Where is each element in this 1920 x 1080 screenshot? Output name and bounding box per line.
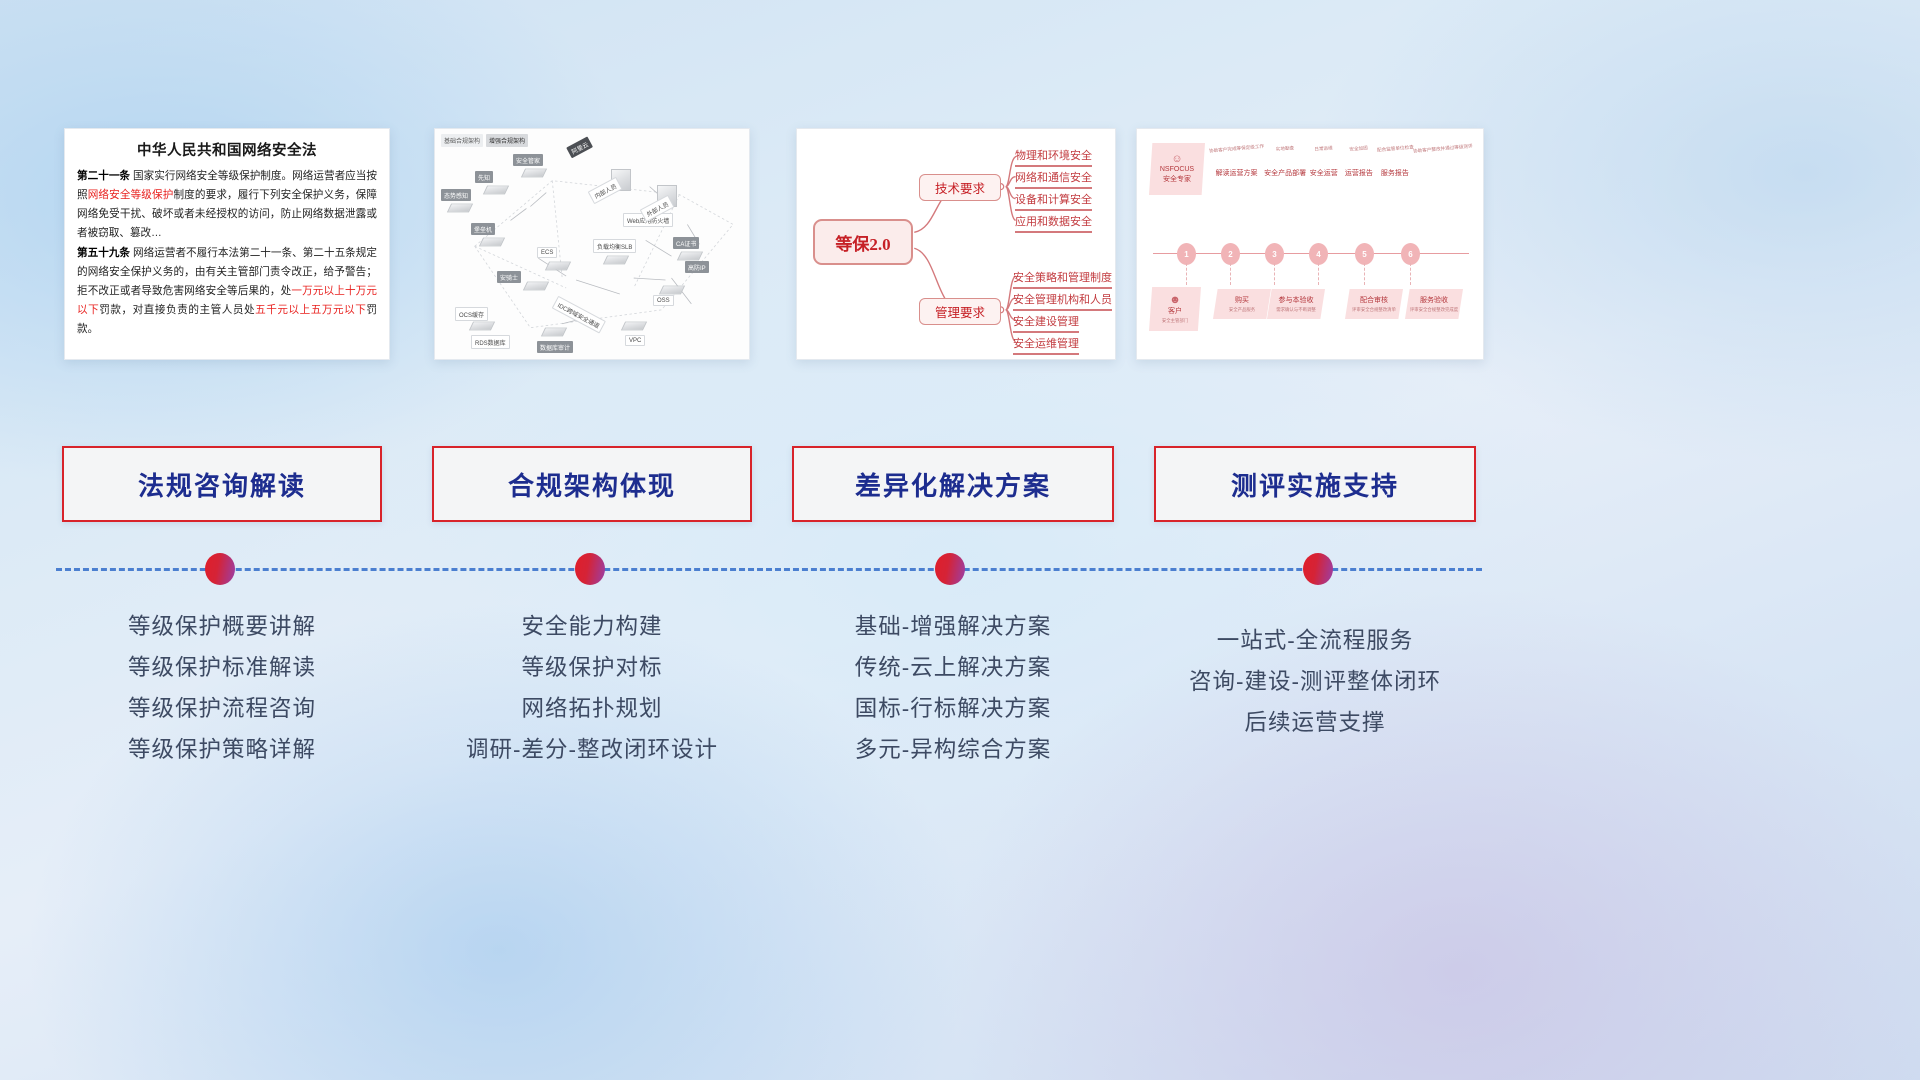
pillar-3-item-1: 咨询-建设-测评整体闭环 — [1154, 661, 1476, 702]
pillar-2-item-3: 多元-异构综合方案 — [792, 729, 1114, 770]
service-bottom-tag-label-2: 配合审核 — [1360, 296, 1388, 305]
arch-node-slb: 负载均衡SLB — [593, 239, 636, 253]
service-bottom-tag-2: 配合审核评审安全合规整改清单 — [1345, 289, 1403, 319]
service-step-dashline-4 — [1318, 263, 1319, 285]
service-top-column-5: 协助客户整改并通过等级测评 — [1413, 146, 1473, 178]
pillar-2-item-0: 基础-增强解决方案 — [792, 606, 1114, 647]
arch-node-ca-certificate: CA证书 — [673, 237, 699, 249]
client-sublabel: 安全主管部门 — [1162, 318, 1188, 324]
service-top-column-3: 安全加固运营报告 — [1341, 146, 1376, 178]
service-top-sub-4: 配合监管单位检查 — [1376, 144, 1413, 153]
pillar-title-1: 合规架构体现 — [508, 466, 676, 503]
arch-icon-ocs-cache — [469, 322, 495, 331]
arch-icon-vpc — [621, 322, 647, 331]
service-step-dot-5: 5 — [1355, 243, 1374, 265]
service-step-labels: 协助客户完成等保定级工作解读运营方案实地勘查安全产品部署日常运维安全运营安全加固… — [1205, 143, 1473, 178]
service-client-badge: ☻ 客户 安全主管部门 — [1149, 287, 1201, 331]
service-top-column-1: 实地勘查安全产品部署 — [1264, 146, 1306, 178]
law-card-title: 中华人民共和国网络安全法 — [77, 139, 377, 160]
service-top-main-2: 安全运营 — [1306, 168, 1341, 178]
architecture-tab-basic[interactable]: 基础合规架构 — [441, 134, 483, 147]
law-article-1-segment-3: 五千元以上五万元以下 — [255, 304, 366, 316]
service-top-column-0: 协助客户完成等保定级工作解读运营方案 — [1209, 146, 1264, 178]
pillar-0-item-1: 等级保护标准解读 — [62, 647, 382, 688]
service-step-dot-6: 6 — [1401, 243, 1420, 265]
law-article-number-1: 第五十九条 — [77, 247, 130, 259]
pillar-3-item-2: 后续运营支撑 — [1154, 702, 1476, 743]
service-bottom-tag-label-0: 购买 — [1235, 296, 1249, 305]
law-article-0: 第二十一条 国家实行网络安全等级保护制度。网络运营者应当按照网络安全等级保护制度… — [77, 167, 377, 242]
arch-node-security-steward: 安全管家 — [513, 154, 543, 166]
timeline — [0, 568, 1920, 570]
arch-icon-security-steward — [521, 169, 547, 178]
mindmap-leaf-device-compute: 设备和计算安全 — [1015, 191, 1092, 211]
service-bottom-row: ☻ 客户 安全主管部门 购买安全产品服务参与本验收需求确认与不断调整配合审核评审… — [1149, 283, 1473, 339]
mindmap-leaf-ops-mgmt: 安全运维管理 — [1013, 335, 1079, 355]
pillar-1-item-3: 调研-差分-整改闭环设计 — [432, 729, 752, 770]
service-expert-badge: ☺ NSFOCUS 安全专家 — [1149, 143, 1205, 195]
service-step-dashline-1 — [1186, 263, 1187, 285]
timeline-dot-2 — [935, 553, 965, 585]
arch-icon-ecs — [545, 262, 571, 271]
service-top-main-0: 解读运营方案 — [1209, 168, 1264, 178]
service-step-dashline-2 — [1230, 263, 1231, 285]
architecture-diagram: 基础合规架构 增强合规架构 — [435, 129, 749, 359]
mindmap-leaf-policy-system: 安全策略和管理制度 — [1013, 269, 1112, 289]
service-step-dashline-5 — [1364, 263, 1365, 285]
pillar-title-2: 差异化解决方案 — [855, 466, 1051, 503]
service-top-main-3: 运营报告 — [1341, 168, 1376, 178]
arch-icon-slb — [603, 256, 629, 265]
pillar-1-item-2: 网络拓扑规划 — [432, 688, 752, 729]
arch-node-ecs: ECS — [537, 247, 557, 258]
service-step-dashline-3 — [1274, 263, 1275, 285]
arch-node-situational-awareness: 态势感知 — [441, 189, 471, 201]
mindmap-branch-technical: 技术要求 — [919, 174, 1001, 201]
service-bottom-tag-label-1: 参与本验收 — [1279, 296, 1314, 305]
law-card-content: 中华人民共和国网络安全法 第二十一条 国家实行网络安全等级保护制度。网络运营者应… — [65, 129, 389, 347]
service-top-main-1: 安全产品部署 — [1264, 168, 1306, 178]
pillar-1-item-1: 等级保护对标 — [432, 647, 752, 688]
mindmap-branch-management: 管理要求 — [919, 298, 1001, 325]
service-top-sub-1: 实地勘查 — [1264, 144, 1306, 153]
service-timeline-diagram: ☺ NSFOCUS 安全专家 协助客户完成等保定级工作解读运营方案实地勘查安全产… — [1137, 129, 1483, 359]
law-article-0-segment-1: 网络安全等级保护 — [88, 189, 174, 201]
arch-node-anqishi: 安骑士 — [497, 271, 521, 283]
card-cybersecurity-law[interactable]: 中华人民共和国网络安全法 第二十一条 国家实行网络安全等级保护制度。网络运营者应… — [64, 128, 390, 360]
service-step-dot-3: 3 — [1265, 243, 1284, 265]
arch-icon-anqishi — [523, 282, 549, 291]
expert-brand: NSFOCUS — [1160, 165, 1194, 174]
arch-node-bastion-host: 堡垒机 — [471, 223, 495, 235]
timeline-dot-1 — [575, 553, 605, 585]
arch-icon-situational-awareness — [447, 204, 473, 213]
arch-icon-bastion-host — [479, 238, 505, 247]
mindmap-leaf-network-comm: 网络和通信安全 — [1015, 169, 1092, 189]
law-article-1-segment-2: 罚款，对直接负责的主管人员处 — [99, 304, 255, 316]
arch-node-rds-database: RDS数据库 — [471, 335, 510, 349]
pillar-items-0: 等级保护概要讲解等级保护标准解读等级保护流程咨询等级保护策略详解 — [62, 606, 382, 770]
service-bottom-tag-sub-2: 评审安全合规整改清单 — [1352, 307, 1396, 313]
law-article-list: 第二十一条 国家实行网络安全等级保护制度。网络运营者应当按照网络安全等级保护制度… — [77, 167, 377, 339]
client-label: 客户 — [1168, 306, 1182, 316]
service-top-sub-3: 安全加固 — [1341, 144, 1377, 153]
pillar-box-compliance-architecture[interactable]: 合规架构体现 — [432, 446, 752, 522]
service-step-dashline-6 — [1410, 263, 1411, 285]
pillar-2-item-2: 国标-行标解决方案 — [792, 688, 1114, 729]
pillar-box-differentiated-solution[interactable]: 差异化解决方案 — [792, 446, 1114, 522]
pillar-items-2: 基础-增强解决方案传统-云上解决方案国标-行标解决方案多元-异构综合方案 — [792, 606, 1114, 770]
card-mindmap-dengbao[interactable]: 等保2.0 技术要求 物理和环境安全 网络和通信安全 设备和计算安全 应用和数据… — [796, 128, 1116, 360]
arch-icon-ca-certificate — [677, 252, 703, 261]
service-step-dot-4: 4 — [1309, 243, 1328, 265]
mindmap-root-node: 等保2.0 — [813, 219, 913, 265]
pillar-2-item-1: 传统-云上解决方案 — [792, 647, 1114, 688]
service-bottom-tag-label-3: 服务验收 — [1420, 296, 1448, 305]
timeline-dot-3 — [1303, 553, 1333, 585]
expert-person-icon: ☺ — [1171, 154, 1182, 165]
arch-icon-oss — [659, 286, 685, 295]
card-compliance-architecture[interactable]: 基础合规架构 增强合规架构 — [434, 128, 750, 360]
service-top-sub-5: 协助客户整改并通过等级测评 — [1413, 143, 1473, 154]
service-bottom-tag-sub-1: 需求确认与不断调整 — [1276, 307, 1316, 313]
pillar-items-1: 安全能力构建等级保护对标网络拓扑规划调研-差分-整改闭环设计 — [432, 606, 752, 770]
pillar-1-item-0: 安全能力构建 — [432, 606, 752, 647]
service-bottom-tag-0: 购买安全产品服务 — [1213, 289, 1271, 319]
pillar-title-row: 法规咨询解读 合规架构体现 差异化解决方案 测评实施支持 — [0, 446, 1920, 522]
service-step-dot-2: 2 — [1221, 243, 1240, 265]
pillar-0-item-3: 等级保护策略详解 — [62, 729, 382, 770]
mindmap-leaf-app-data: 应用和数据安全 — [1015, 213, 1092, 233]
pillar-0-item-2: 等级保护流程咨询 — [62, 688, 382, 729]
reference-cards-row: 中华人民共和国网络安全法 第二十一条 国家实行网络安全等级保护制度。网络运营者应… — [0, 128, 1920, 360]
timeline-dot-0 — [205, 553, 235, 585]
service-bottom-tag-sub-3: 评审安全合规整改完成度 — [1410, 307, 1458, 313]
mindmap-leaf-construction-mgmt: 安全建设管理 — [1013, 313, 1079, 333]
arch-node-xianzhi: 先知 — [475, 171, 493, 183]
arch-node-ocs-cache: OCS缓存 — [455, 307, 488, 321]
service-top-sub-2: 日常运维 — [1306, 144, 1342, 153]
architecture-tab-enhanced[interactable]: 增强合规架构 — [486, 134, 528, 147]
service-step-dot-1: 1 — [1177, 243, 1196, 265]
architecture-tabs[interactable]: 基础合规架构 增强合规架构 — [441, 134, 528, 147]
pillar-box-regulation-consulting[interactable]: 法规咨询解读 — [62, 446, 382, 522]
pillar-items-3: 一站式-全流程服务咨询-建设-测评整体闭环后续运营支撑 — [1154, 620, 1476, 743]
arch-icon-xianzhi — [483, 186, 509, 195]
pillar-title-3: 测评实施支持 — [1231, 466, 1399, 503]
law-article-1: 第五十九条 网络运营者不履行本法第二十一条、第二十五条规定的网络安全保护义务的，… — [77, 244, 377, 338]
expert-role: 安全专家 — [1163, 175, 1191, 184]
service-top-column-4: 配合监管单位检查服务报告 — [1377, 146, 1414, 178]
timeline-dashed-line — [56, 568, 1482, 571]
pillar-0-item-0: 等级保护概要讲解 — [62, 606, 382, 647]
card-service-timeline[interactable]: ☺ NSFOCUS 安全专家 协助客户完成等保定级工作解读运营方案实地勘查安全产… — [1136, 128, 1484, 360]
service-top-sub-0: 协助客户完成等保定级工作 — [1209, 144, 1264, 155]
mindmap-leaf-org-personnel: 安全管理机构和人员 — [1013, 291, 1112, 311]
arch-node-vpc: VPC — [625, 335, 645, 346]
arch-node-oss: OSS — [653, 295, 674, 306]
law-article-number-0: 第二十一条 — [77, 170, 130, 182]
arch-node-database-audit: 数据库审计 — [537, 341, 573, 353]
service-top-main-4: 服务报告 — [1377, 168, 1414, 178]
arch-node-anti-ddos-ip: 高防IP — [685, 261, 709, 273]
pillar-box-assessment-support[interactable]: 测评实施支持 — [1154, 446, 1476, 522]
service-bottom-tag-3: 服务验收评审安全合规整改完成度 — [1405, 289, 1463, 319]
service-bottom-tag-1: 参与本验收需求确认与不断调整 — [1267, 289, 1325, 319]
service-bottom-tag-sub-0: 安全产品服务 — [1229, 307, 1255, 313]
pillar-title-0: 法规咨询解读 — [138, 466, 306, 503]
mindmap-leaf-physical-env: 物理和环境安全 — [1015, 147, 1092, 167]
arch-icon-database-audit — [541, 328, 567, 337]
service-top-row: ☺ NSFOCUS 安全专家 协助客户完成等保定级工作解读运营方案实地勘查安全产… — [1149, 143, 1473, 199]
pillar-3-item-0: 一站式-全流程服务 — [1154, 620, 1476, 661]
service-top-column-2: 日常运维安全运营 — [1306, 146, 1341, 178]
mindmap-diagram: 等保2.0 技术要求 物理和环境安全 网络和通信安全 设备和计算安全 应用和数据… — [797, 129, 1115, 359]
client-person-icon: ☻ — [1169, 295, 1181, 306]
